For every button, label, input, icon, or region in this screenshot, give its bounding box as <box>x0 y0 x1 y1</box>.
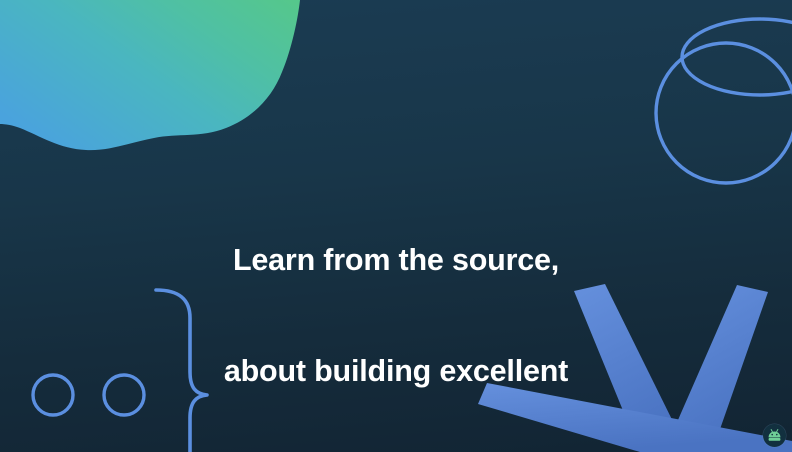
page-title: Learn from the source, about building ex… <box>0 168 792 452</box>
slide-canvas: Learn from the source, about building ex… <box>0 0 792 452</box>
headline-line-2: about building excellent <box>0 353 792 390</box>
circle-outline-ellipse <box>682 19 792 95</box>
headline-line-1: Learn from the source, <box>0 242 792 279</box>
blob-path <box>0 0 300 150</box>
circle-outline-large <box>656 43 792 183</box>
android-robot-icon <box>767 429 782 442</box>
android-robot-logo <box>763 424 786 447</box>
